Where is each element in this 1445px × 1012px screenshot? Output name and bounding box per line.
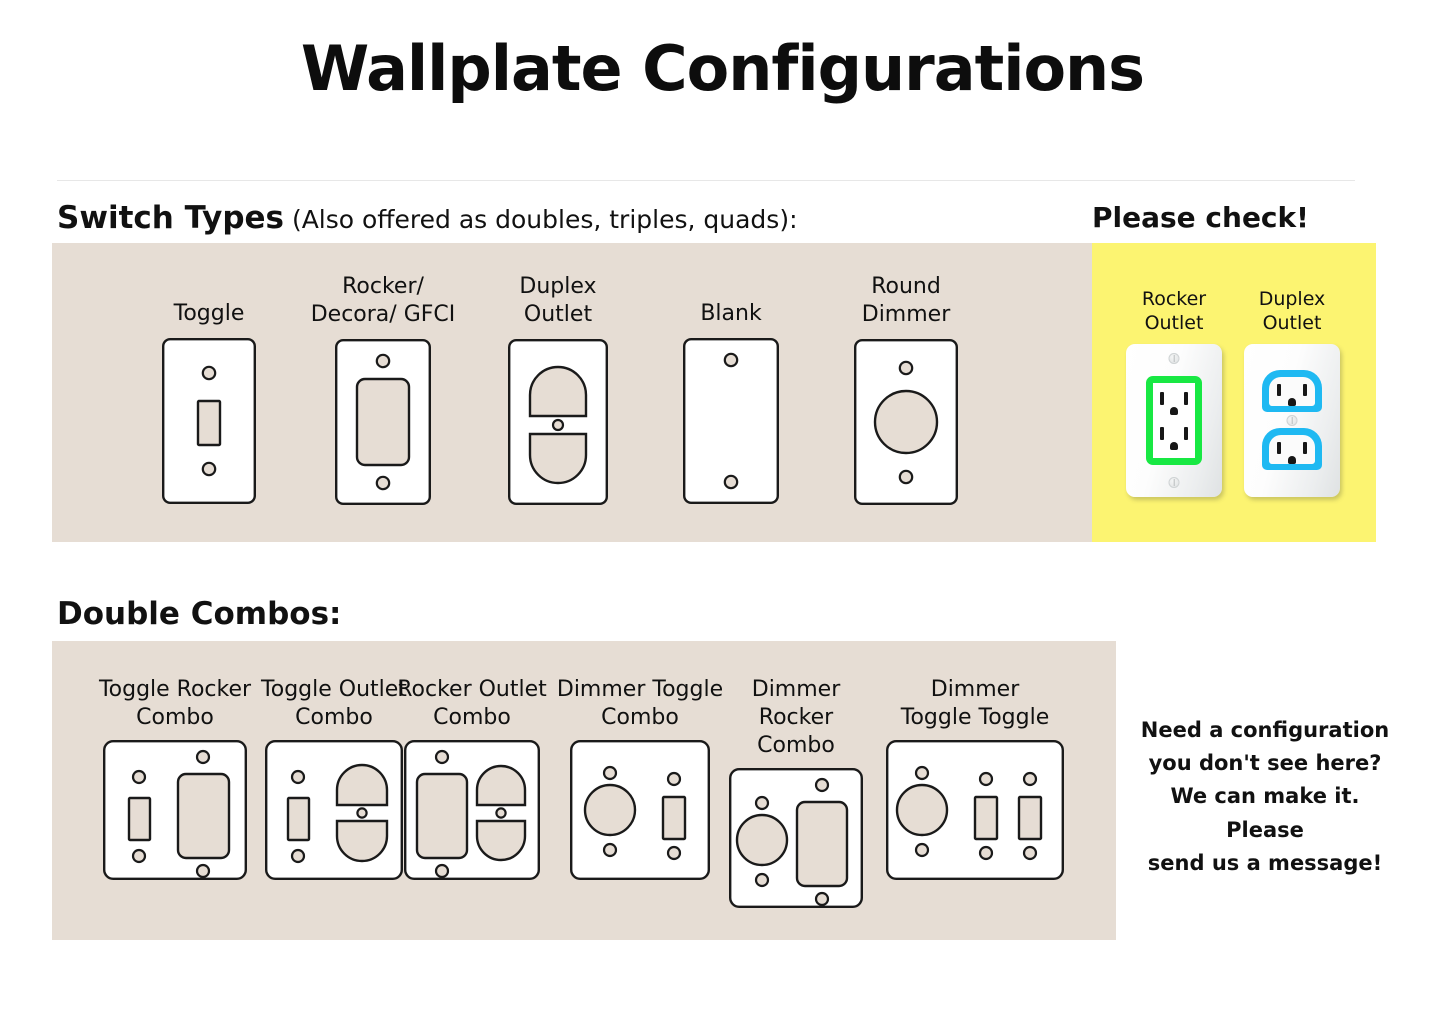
combo-item-rocker-outlet-label: Rocker Outlet Combo: [390, 676, 554, 732]
duplex-center-screw: [1287, 415, 1298, 426]
duplex-ground-lower: [1288, 456, 1296, 464]
combo-item-toggle-rocker-label: Toggle Rocker Combo: [90, 676, 260, 732]
check-item-rocker-outlet-label: Rocker Outlet: [1122, 287, 1226, 336]
receptacle-slot-lower-right: [1184, 427, 1188, 440]
switch-item-rocker[interactable]: Rocker/ Decora/ GFCI: [276, 273, 490, 505]
combo-item-dimmer-toggle[interactable]: Dimmer Toggle Combo: [556, 676, 724, 880]
switch-item-blank[interactable]: Blank: [660, 300, 802, 504]
page-title: Wallplate Configurations: [0, 36, 1445, 101]
receptacle-ground-lower: [1170, 442, 1178, 450]
double-combos-heading: Double Combos:: [57, 596, 341, 632]
dimmer-rocker-plate-graphic: [729, 768, 863, 908]
outlet-screw-top: [1169, 353, 1180, 364]
combo-item-dimmer-toggle-toggle-label: Dimmer Toggle Toggle: [886, 676, 1064, 732]
combo-item-dimmer-rocker[interactable]: Dimmer Rocker Combo: [712, 676, 880, 908]
toggle-plate-graphic: [162, 338, 256, 504]
combo-item-dimmer-toggle-toggle[interactable]: Dimmer Toggle Toggle: [886, 676, 1064, 880]
combo-item-dimmer-rocker-label: Dimmer Rocker Combo: [712, 676, 880, 760]
check-item-duplex-outlet-label: Duplex Outlet: [1240, 287, 1344, 336]
switch-types-heading-sub: (Also offered as doubles, triples, quads…: [284, 205, 798, 234]
duplex-highlight-lower: [1262, 428, 1322, 470]
check-item-duplex-outlet[interactable]: Duplex Outlet: [1240, 287, 1344, 497]
combo-item-dimmer-toggle-label: Dimmer Toggle Combo: [556, 676, 724, 732]
receptacle-slot-upper-left: [1160, 392, 1164, 405]
switch-item-duplex-label: Duplex Outlet: [470, 273, 646, 329]
duplex-slot-lower-right: [1303, 442, 1307, 454]
check-item-rocker-outlet[interactable]: Rocker Outlet: [1122, 287, 1226, 497]
dimmer-toggle-plate-graphic: [570, 740, 710, 880]
toggle-rocker-plate-graphic: [103, 740, 247, 880]
receptacle-ground-upper: [1170, 407, 1178, 415]
duplex-slot-lower-left: [1277, 442, 1281, 454]
switch-item-toggle[interactable]: Toggle: [118, 300, 300, 504]
outlet-screw-bottom: [1169, 477, 1180, 488]
duplex-face-upper: [1269, 377, 1315, 406]
dimmer-toggle-toggle-plate-graphic: [886, 740, 1064, 880]
combo-item-rocker-outlet[interactable]: Rocker Outlet Combo: [390, 676, 554, 880]
switch-item-dimmer-label: Round Dimmer: [830, 273, 982, 329]
switch-types-heading-strong: Switch Types: [57, 200, 284, 236]
rocker-outlet-plate-graphic: [404, 740, 540, 880]
duplex-plate-graphic: [508, 339, 608, 505]
rocker-highlight-ring: [1146, 376, 1202, 465]
round-dimmer-plate-graphic: [854, 339, 958, 505]
duplex-slot-upper-left: [1277, 384, 1281, 396]
duplex-outlet-photo: [1244, 344, 1340, 497]
duplex-highlight-upper: [1262, 370, 1322, 412]
duplex-ground-upper: [1288, 398, 1296, 406]
switch-item-blank-label: Blank: [660, 300, 802, 328]
rocker-plate-graphic: [335, 339, 431, 505]
header-divider: [57, 180, 1355, 181]
switch-item-duplex[interactable]: Duplex Outlet: [470, 273, 646, 505]
switch-types-heading: Switch Types (Also offered as doubles, t…: [57, 200, 798, 236]
receptacle-slot-lower-left: [1160, 427, 1164, 440]
switch-item-dimmer[interactable]: Round Dimmer: [830, 273, 982, 505]
switch-item-toggle-label: Toggle: [118, 300, 300, 328]
blank-plate-graphic: [683, 338, 779, 504]
switch-item-rocker-label: Rocker/ Decora/ GFCI: [276, 273, 490, 329]
custom-configuration-message: Need a configuration you don't see here?…: [1135, 714, 1395, 880]
please-check-heading: Please check!: [1092, 201, 1309, 234]
receptacle-slot-upper-right: [1184, 392, 1188, 405]
combo-item-toggle-rocker[interactable]: Toggle Rocker Combo: [90, 676, 260, 880]
duplex-slot-upper-right: [1303, 384, 1307, 396]
duplex-face-lower: [1269, 435, 1315, 464]
toggle-outlet-plate-graphic: [265, 740, 403, 880]
rocker-outlet-photo: [1126, 344, 1222, 497]
